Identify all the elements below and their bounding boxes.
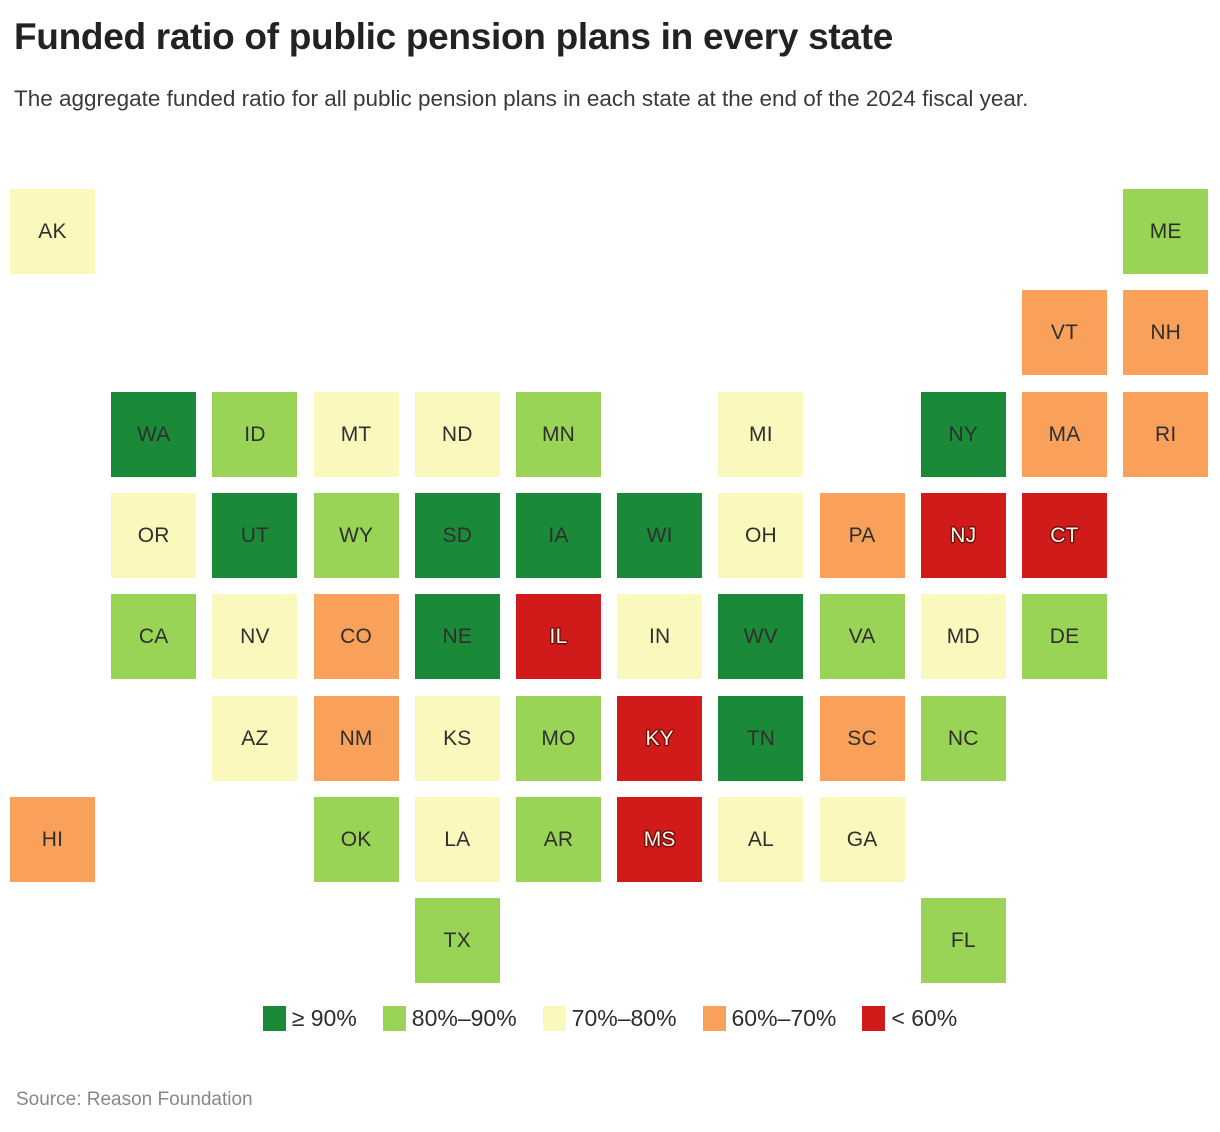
state-tile-va[interactable]: VA bbox=[820, 594, 905, 679]
state-tile-in[interactable]: IN bbox=[617, 594, 702, 679]
state-tile-label: KY bbox=[645, 728, 673, 749]
legend-item-ge90[interactable]: ≥ 90% bbox=[263, 1005, 357, 1032]
state-tile-label: SD bbox=[443, 525, 473, 546]
state-tile-wi[interactable]: WI bbox=[617, 493, 702, 578]
source-note: Source: Reason Foundation bbox=[16, 1089, 253, 1111]
state-tile-ms[interactable]: MS bbox=[617, 797, 702, 882]
state-tile-de[interactable]: DE bbox=[1022, 594, 1107, 679]
state-tile-ar[interactable]: AR bbox=[516, 797, 601, 882]
state-tile-label: IA bbox=[548, 525, 568, 546]
state-tile-label: PA bbox=[849, 525, 876, 546]
state-tile-label: ME bbox=[1150, 221, 1182, 242]
state-tile-me[interactable]: ME bbox=[1123, 189, 1208, 274]
state-tile-label: MN bbox=[542, 424, 575, 445]
state-tile-mt[interactable]: MT bbox=[314, 392, 399, 477]
state-tile-co[interactable]: CO bbox=[314, 594, 399, 679]
state-tile-label: ID bbox=[244, 424, 265, 445]
state-tile-label: WV bbox=[744, 626, 778, 647]
state-tile-nj[interactable]: NJ bbox=[921, 493, 1006, 578]
state-tile-label: WI bbox=[647, 525, 673, 546]
state-tile-az[interactable]: AZ bbox=[212, 696, 297, 781]
state-tile-mo[interactable]: MO bbox=[516, 696, 601, 781]
state-tile-nc[interactable]: NC bbox=[921, 696, 1006, 781]
state-tile-vt[interactable]: VT bbox=[1022, 290, 1107, 375]
state-tile-la[interactable]: LA bbox=[415, 797, 500, 882]
state-tile-nv[interactable]: NV bbox=[212, 594, 297, 679]
state-tile-wv[interactable]: WV bbox=[718, 594, 803, 679]
footer-divider bbox=[0, 1072, 1220, 1073]
legend: ≥ 90%80%–90%70%–80%60%–70%< 60% bbox=[0, 1005, 1220, 1032]
state-tile-label: OH bbox=[745, 525, 777, 546]
state-tile-label: AZ bbox=[241, 728, 268, 749]
state-tile-label: DE bbox=[1050, 626, 1080, 647]
state-tile-label: AL bbox=[748, 829, 774, 850]
state-tile-label: MS bbox=[644, 829, 676, 850]
state-tile-label: OR bbox=[138, 525, 170, 546]
state-tile-ma[interactable]: MA bbox=[1022, 392, 1107, 477]
state-tile-ut[interactable]: UT bbox=[212, 493, 297, 578]
legend-swatch-icon bbox=[383, 1006, 406, 1031]
state-tile-label: LA bbox=[444, 829, 470, 850]
state-tile-nh[interactable]: NH bbox=[1123, 290, 1208, 375]
state-tile-ks[interactable]: KS bbox=[415, 696, 500, 781]
state-tile-label: VT bbox=[1051, 322, 1078, 343]
state-tile-oh[interactable]: OH bbox=[718, 493, 803, 578]
state-tile-label: FL bbox=[951, 930, 976, 951]
state-tile-label: KS bbox=[443, 728, 471, 749]
state-tile-fl[interactable]: FL bbox=[921, 898, 1006, 983]
legend-label: 60%–70% bbox=[732, 1005, 837, 1032]
state-tile-ca[interactable]: CA bbox=[111, 594, 196, 679]
state-tile-label: MI bbox=[749, 424, 773, 445]
state-tile-nm[interactable]: NM bbox=[314, 696, 399, 781]
state-tile-label: NM bbox=[340, 728, 373, 749]
state-tile-label: IL bbox=[550, 626, 568, 647]
state-tile-ky[interactable]: KY bbox=[617, 696, 702, 781]
state-tile-label: CA bbox=[139, 626, 169, 647]
state-tile-label: TX bbox=[444, 930, 471, 951]
state-tile-id[interactable]: ID bbox=[212, 392, 297, 477]
state-tile-or[interactable]: OR bbox=[111, 493, 196, 578]
state-tile-label: GA bbox=[847, 829, 878, 850]
state-tile-label: ND bbox=[442, 424, 473, 445]
state-tile-pa[interactable]: PA bbox=[820, 493, 905, 578]
legend-swatch-icon bbox=[543, 1006, 566, 1031]
state-tile-label: NE bbox=[443, 626, 473, 647]
state-tile-ny[interactable]: NY bbox=[921, 392, 1006, 477]
state-tile-label: OK bbox=[341, 829, 372, 850]
state-tile-grid-map: AKMEVTNHWAIDMTNDMNMINYMARIORUTWYSDIAWIOH… bbox=[10, 189, 1210, 979]
state-tile-label: MA bbox=[1049, 424, 1081, 445]
state-tile-label: VA bbox=[849, 626, 876, 647]
state-tile-label: SC bbox=[847, 728, 877, 749]
state-tile-hi[interactable]: HI bbox=[10, 797, 95, 882]
state-tile-ia[interactable]: IA bbox=[516, 493, 601, 578]
state-tile-ne[interactable]: NE bbox=[415, 594, 500, 679]
legend-swatch-icon bbox=[703, 1006, 726, 1031]
state-tile-label: NJ bbox=[950, 525, 976, 546]
state-tile-ct[interactable]: CT bbox=[1022, 493, 1107, 578]
state-tile-sd[interactable]: SD bbox=[415, 493, 500, 578]
state-tile-label: MT bbox=[341, 424, 372, 445]
legend-item-b70_80[interactable]: 70%–80% bbox=[543, 1005, 677, 1032]
state-tile-md[interactable]: MD bbox=[921, 594, 1006, 679]
state-tile-label: CO bbox=[340, 626, 372, 647]
state-tile-il[interactable]: IL bbox=[516, 594, 601, 679]
state-tile-al[interactable]: AL bbox=[718, 797, 803, 882]
state-tile-label: WY bbox=[339, 525, 373, 546]
page-subtitle: The aggregate funded ratio for all publi… bbox=[14, 82, 1204, 115]
legend-label: 80%–90% bbox=[412, 1005, 517, 1032]
state-tile-label: AR bbox=[544, 829, 574, 850]
state-tile-label: HI bbox=[42, 829, 63, 850]
state-tile-label: AK bbox=[38, 221, 66, 242]
state-tile-tx[interactable]: TX bbox=[415, 898, 500, 983]
legend-item-b80_90[interactable]: 80%–90% bbox=[383, 1005, 517, 1032]
state-tile-label: WA bbox=[137, 424, 170, 445]
legend-item-lt60[interactable]: < 60% bbox=[862, 1005, 957, 1032]
state-tile-tn[interactable]: TN bbox=[718, 696, 803, 781]
state-tile-sc[interactable]: SC bbox=[820, 696, 905, 781]
legend-label: ≥ 90% bbox=[292, 1005, 357, 1032]
state-tile-label: NY bbox=[949, 424, 979, 445]
state-tile-ok[interactable]: OK bbox=[314, 797, 399, 882]
state-tile-nd[interactable]: ND bbox=[415, 392, 500, 477]
state-tile-label: IN bbox=[649, 626, 670, 647]
legend-item-b60_70[interactable]: 60%–70% bbox=[703, 1005, 837, 1032]
state-tile-label: TN bbox=[747, 728, 775, 749]
legend-label: 70%–80% bbox=[572, 1005, 677, 1032]
state-tile-ri[interactable]: RI bbox=[1123, 392, 1208, 477]
state-tile-mn[interactable]: MN bbox=[516, 392, 601, 477]
state-tile-label: CT bbox=[1050, 525, 1078, 546]
state-tile-wa[interactable]: WA bbox=[111, 392, 196, 477]
state-tile-label: RI bbox=[1155, 424, 1176, 445]
state-tile-label: MD bbox=[947, 626, 980, 647]
legend-swatch-icon bbox=[263, 1006, 286, 1031]
state-tile-label: MO bbox=[541, 728, 575, 749]
state-tile-wy[interactable]: WY bbox=[314, 493, 399, 578]
page-title: Funded ratio of public pension plans in … bbox=[14, 16, 893, 58]
state-tile-ga[interactable]: GA bbox=[820, 797, 905, 882]
state-tile-label: UT bbox=[241, 525, 269, 546]
legend-swatch-icon bbox=[862, 1006, 885, 1031]
state-tile-mi[interactable]: MI bbox=[718, 392, 803, 477]
state-tile-label: NH bbox=[1150, 322, 1181, 343]
legend-label: < 60% bbox=[891, 1005, 957, 1032]
state-tile-ak[interactable]: AK bbox=[10, 189, 95, 274]
state-tile-label: NV bbox=[240, 626, 270, 647]
state-tile-label: NC bbox=[948, 728, 979, 749]
